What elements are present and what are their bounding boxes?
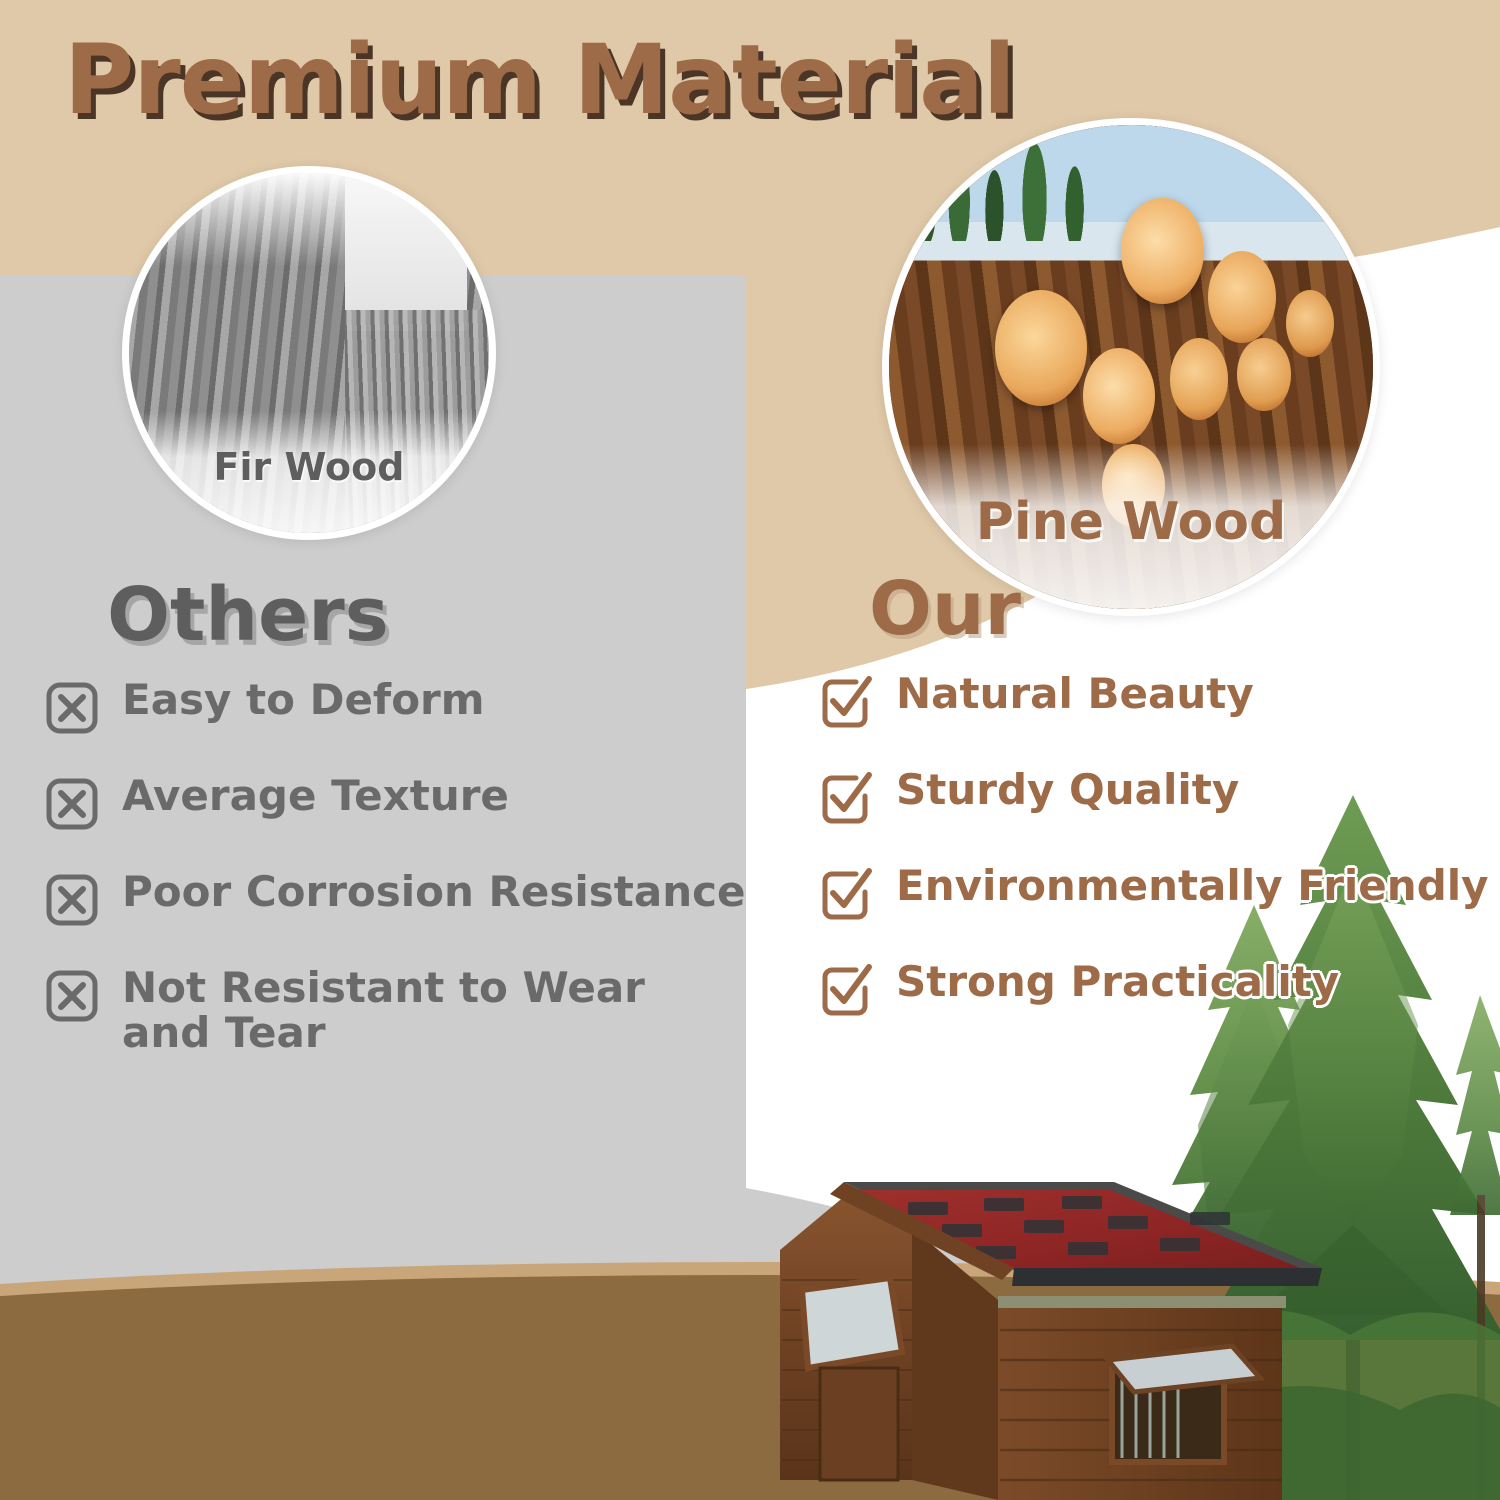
log-end <box>1237 338 1290 411</box>
list-item-label: Not Resistant to Wear and Tear <box>122 964 645 1055</box>
list-item: Strong Practicality <box>760 958 1500 1018</box>
x-mark-icon <box>44 872 100 928</box>
our-heading: Our <box>390 572 1500 646</box>
list-item-label: Easy to Deform <box>122 676 485 723</box>
fir-wood-circle: Fir Wood <box>122 166 496 540</box>
fir-wood-caption: Fir Wood <box>129 411 489 533</box>
check-mark-icon <box>818 770 874 826</box>
check-mark-icon <box>818 962 874 1018</box>
doghouse-product-image <box>762 1150 1322 1500</box>
log-end <box>1083 348 1156 445</box>
our-list: Natural Beauty Sturdy Quality Environmen… <box>760 670 1500 1018</box>
others-column: Others Easy to Deform Average Texture Po… <box>0 578 746 1091</box>
log-end <box>1170 338 1228 420</box>
log-end <box>1121 198 1203 304</box>
log-end <box>995 290 1087 406</box>
list-item-label: Strong Practicality <box>896 958 1339 1005</box>
list-item: Sturdy Quality <box>760 766 1500 826</box>
list-item-label: Poor Corrosion Resistance <box>122 868 745 915</box>
list-item-label: Average Texture <box>122 772 509 819</box>
list-item: Poor Corrosion Resistance <box>0 868 746 928</box>
list-item: Not Resistant to Wear and Tear <box>0 964 746 1055</box>
list-item-label: Environmentally Friendly <box>896 862 1489 909</box>
log-end <box>1208 251 1276 343</box>
x-mark-icon <box>44 968 100 1024</box>
infographic-canvas: Premium Material Fir Wood Pine Wood Othe… <box>0 0 1500 1500</box>
list-item: Environmentally Friendly <box>760 862 1500 922</box>
pine-wood-circle: Pine Wood <box>882 118 1380 616</box>
list-item: Natural Beauty <box>760 670 1500 730</box>
list-item: Average Texture <box>0 772 746 832</box>
list-item: Easy to Deform <box>0 676 746 736</box>
x-mark-icon <box>44 680 100 736</box>
log-end <box>1286 290 1334 358</box>
check-mark-icon <box>818 674 874 730</box>
list-item-label: Natural Beauty <box>896 670 1254 717</box>
list-item-label: Sturdy Quality <box>896 766 1239 813</box>
check-mark-icon <box>818 866 874 922</box>
x-mark-icon <box>44 776 100 832</box>
our-column: Our Natural Beauty Sturdy Quality Enviro… <box>760 572 1500 1054</box>
pine-photo-background-trees <box>899 125 1151 241</box>
page-title: Premium Material <box>64 24 1015 136</box>
others-list: Easy to Deform Average Texture Poor Corr… <box>0 676 746 1055</box>
